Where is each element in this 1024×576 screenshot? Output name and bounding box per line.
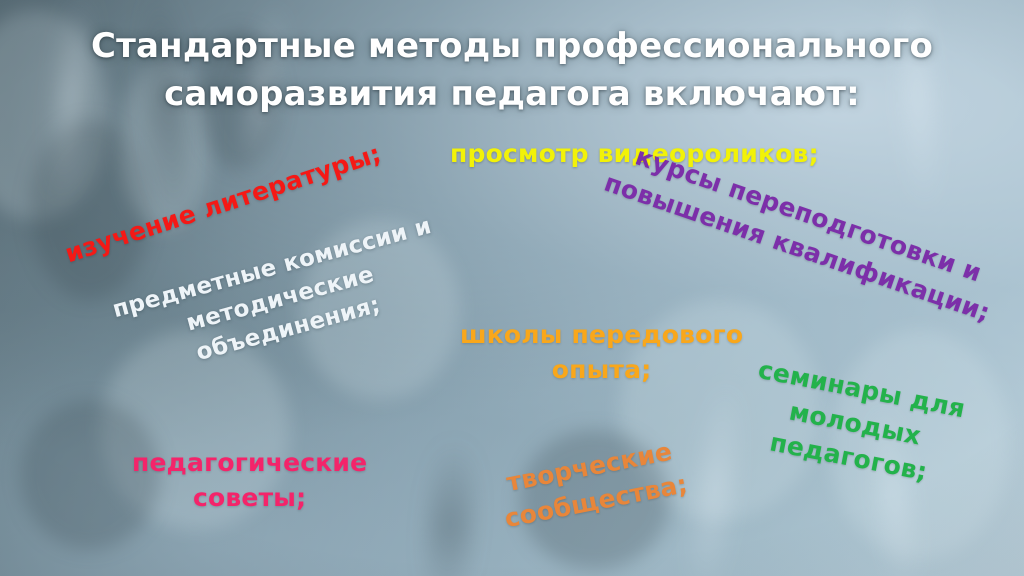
method-item-pedagogical-councils: педагогические советы;: [132, 446, 367, 515]
slide-title: Стандартные методы профессионального сам…: [84, 22, 940, 119]
method-item-best-practice-schools: школы передового опыта;: [460, 318, 743, 387]
presentation-slide: Стандартные методы профессионального сам…: [0, 0, 1024, 576]
